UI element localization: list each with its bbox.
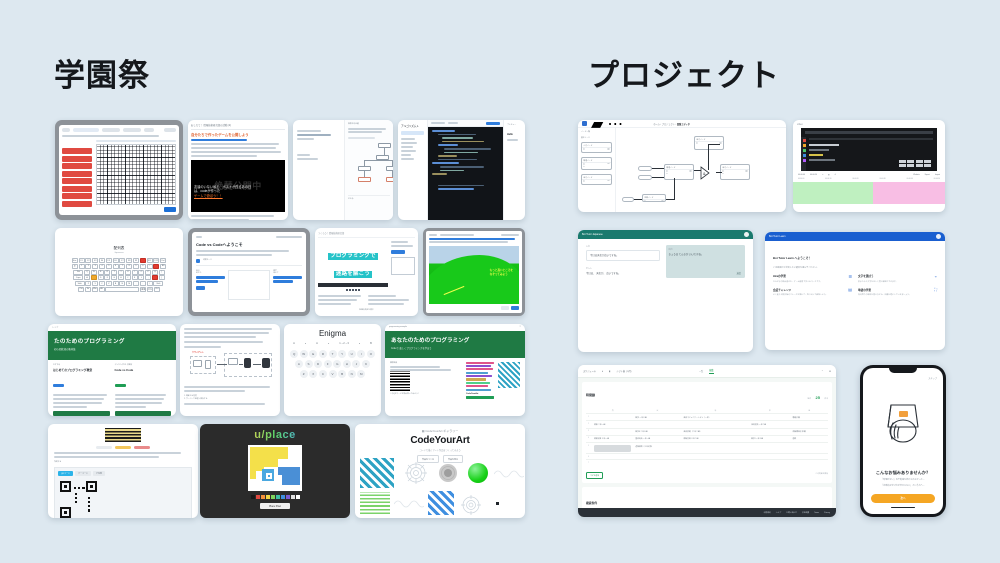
key-space[interactable] — [105, 287, 139, 292]
feature-title: 会話チャレンジ — [773, 288, 791, 292]
art-pattern-green[interactable] — [360, 492, 390, 514]
cell-selected[interactable] — [592, 442, 633, 453]
save-note[interactable]: この内容を保存 — [815, 472, 828, 475]
feature-title: 文字を選ぼう — [858, 274, 874, 278]
swatch[interactable] — [266, 495, 270, 499]
u-place-logo: u/place — [205, 429, 345, 441]
terminal-preview: 絶賛公開中 友達のいない私と、ポストが作るあの日 は、codeが作った ゲームで… — [191, 160, 285, 212]
article-sidebar — [391, 241, 415, 291]
terminal-line-3: ゲームで遊ぼう！！ — [194, 194, 223, 198]
article-footer-note[interactable]: 記事の続きを読む — [318, 309, 415, 312]
place-pixel-button[interactable]: Place Pixel — [260, 503, 290, 509]
gear-icon[interactable]: ⚙ — [829, 370, 831, 373]
onboarding-illustration — [869, 380, 937, 468]
graph-node-out-right[interactable]: 出力ノードinoutinoutin — [720, 164, 750, 180]
editor-preview[interactable] — [801, 128, 937, 171]
terrain-hill — [429, 255, 519, 304]
hero-title: あなたのためのプログラミング — [391, 336, 519, 344]
key-s-highlight[interactable] — [91, 275, 97, 280]
panel-title: 時間割 — [586, 393, 595, 397]
ruler-mark: 00:00:10 — [825, 179, 831, 180]
feature-card[interactable]: 文字を選ぼう⌁ 表示された文字を正しく選ぶ練習ができます。 — [858, 274, 937, 284]
split-icon[interactable]: ✂ — [822, 174, 824, 176]
keyboard-subtitle: Japanese — [60, 252, 178, 254]
summary-label: まとめ — [348, 195, 390, 201]
breadcrumb-home[interactable]: ホーム — [653, 124, 660, 126]
chip-popular[interactable] — [115, 446, 131, 449]
article-footer — [191, 215, 285, 220]
content-row: 検索結果 このQRコードを読み取ってみよう！ CodeYourArt — [385, 358, 525, 405]
time-current: 00:00:00 — [798, 174, 805, 176]
card-blue-tutor-app[interactable]: Bot Tutor Learn Bot Tutor Learn へようこそ！ こ… — [765, 232, 945, 350]
node-sidebar[interactable]: ノード一覧 基本ノード 入力ノードinoutinout 論理ノードinoutin… — [578, 128, 616, 212]
cell[interactable] — [633, 421, 681, 428]
cell[interactable]: 国語総合 一年一組 — [633, 435, 681, 442]
input-column: 入力 今日は天気が良いですね。 ヒント 今日は、 天気が、 良いですね。 — [586, 245, 660, 278]
card-terrain-visualizer-tablet[interactable]: もっと高いところをなぞってみよう — [423, 228, 525, 316]
cell[interactable] — [791, 421, 828, 428]
footer-link[interactable]: お問い合わせ — [786, 511, 797, 514]
tree-diagram — [348, 143, 390, 195]
graph-node-bottom[interactable]: 定数ノードinout — [642, 194, 666, 202]
count-unit: 件中 — [824, 398, 828, 400]
feature-card[interactable]: Hiraの学習☰ ひらがなの読み書きを、ゲーム感覚で学べるコースです。 — [773, 274, 852, 284]
tab-barcode[interactable]: バーコード — [75, 471, 91, 476]
card-qr-code-generator-doc[interactable]: 作成する QRコード バーコード その他 — [48, 424, 198, 518]
art-gallery — [360, 458, 520, 515]
export-button[interactable]: Export — [925, 174, 930, 176]
article-header: おしえて！ 情報技術研究部の活動 (2) — [191, 123, 285, 130]
course-cta-button[interactable] — [53, 411, 110, 416]
card-teal-translator-app[interactable]: Bot Tutor Japanese 入力 今日は天気が良いですね。 ヒント 今… — [578, 230, 753, 352]
input-label: 入力 — [586, 245, 660, 248]
swatch[interactable] — [296, 495, 300, 499]
course-cta-button[interactable] — [115, 411, 172, 416]
card-mobile-onboarding[interactable]: スキップ こんなお悩みありませんか？ 「時間がない」ので勉強を続けられなかった…… — [860, 365, 946, 517]
timeline-clip-a[interactable] — [793, 182, 873, 204]
ruler-mark: 00:00:20 — [852, 179, 858, 180]
block-palette[interactable] — [62, 140, 92, 212]
onboarding-headline: こんなお悩みありませんか？ — [869, 470, 937, 476]
window-titlebar: Bot Tutor Japanese — [578, 230, 753, 239]
instruction-bar — [62, 135, 159, 137]
chip-new[interactable] — [134, 446, 150, 449]
app-logo-icon — [582, 121, 587, 126]
swatch[interactable] — [271, 495, 275, 499]
keyboard-row: CtrlFnWinAlt変換かなCtrl — [60, 287, 178, 292]
cell[interactable]: 職員会議 — [791, 414, 828, 421]
bullet-2: 2. サーバーで処理し保存する — [184, 398, 276, 401]
onboarding-bullet-2: 「効率的な学び方が分からない」という方へ… — [869, 485, 937, 488]
swatch[interactable] — [286, 495, 290, 499]
card-maze-programming-tablet[interactable] — [55, 120, 183, 220]
timetable[interactable]: 月 火 水 木 金 1 数学 一年三組 英語コミュニケーション（一年） 職員会議… — [586, 407, 828, 466]
website-button[interactable]: Website — [913, 174, 919, 176]
preview-badge: Hello — [507, 133, 522, 136]
art-title: CodeYourArt — [360, 435, 520, 446]
hero-subtitle: Codeで 楽しくプログラミングを学ぼう — [391, 346, 519, 350]
table-row: 1 数学 一年三組 英語コミュニケーション（一年） 職員会議 — [586, 414, 828, 421]
day-header: 木 — [749, 407, 790, 414]
window-control-icon[interactable] — [936, 234, 941, 239]
enigma-keyboard-row: QWERTYUIO — [288, 350, 377, 358]
timeline-clip-b[interactable] — [873, 182, 945, 204]
enigma-title: Enigma — [288, 329, 377, 338]
footer-link[interactable]: Terms — [814, 512, 819, 514]
panel-opponent-label: あいて — [273, 272, 302, 275]
hint-label: ヒント — [586, 267, 660, 270]
terrain-canvas[interactable]: もっと高いところをなぞってみよう — [429, 246, 519, 304]
art-wave-right — [494, 468, 524, 480]
card-code-your-art[interactable]: ▦ CodeYourArt ギャラリー CodeYourArt コードで描くアー… — [355, 424, 525, 518]
code-pane — [293, 120, 345, 220]
card-video-editor[interactable]: video 00:00:00 00:00:50 ✂ ▮ ↺ Website Ex… — [793, 120, 945, 212]
app-title: Code vs Codeへようこそ — [196, 242, 302, 248]
app-label: video — [793, 120, 945, 128]
course-card[interactable]: ランキング1位 の教材 Code vs Code — [115, 364, 172, 416]
banner: プログラミングで 迷路を解こう — [318, 244, 388, 280]
ruler-mark: 00:00:00 — [798, 179, 804, 180]
workspace — [62, 140, 176, 212]
filter-title: 検索条件 — [586, 501, 597, 505]
cell[interactable]: 情報実習 三年二組 — [682, 435, 750, 442]
enigma-keyboard-row: ZXCVBNM — [288, 370, 377, 378]
graph-node-out-top[interactable]: 出力ノードinoutinout — [694, 136, 724, 150]
editor-body: ノード一覧 基本ノード 入力ノードinoutinout 論理ノードinoutin… — [578, 128, 786, 212]
card-docs-flowchart-page[interactable]: 探索木の比較 まとめ — [293, 120, 393, 220]
tablet-screen: もっと高いところをなぞってみよう — [426, 231, 522, 313]
editor-main — [428, 120, 503, 220]
output-value: きょうは てんきが いいですね。 — [669, 253, 743, 257]
count-value: 25 — [815, 395, 819, 400]
card-keyboard-layout-chart[interactable]: 配列表 Japanese EscF1F2F3F4F5F6F7F8F9F11F12… — [55, 228, 183, 316]
output-send-button[interactable]: 送信 — [737, 271, 741, 275]
preview-label: プレビュー — [507, 124, 522, 127]
cell[interactable]: 体育実技 一年二組 — [749, 421, 790, 428]
phone-screen: スキップ こんなお悩みありませんか？ 「時間がない」ので勉強を続けられなかった…… — [863, 368, 943, 514]
battle-panels: 自分 あなた 相手 あいて — [196, 270, 302, 300]
maze-canvas — [96, 144, 176, 205]
tab-edit[interactable]: 編集 — [709, 368, 713, 374]
art-pattern-teal[interactable] — [360, 458, 394, 488]
sidebar-title: アルゴリズム１ — [401, 124, 424, 128]
card-code-editor-dark[interactable]: アルゴリズム１ プレビュー Hello — [398, 120, 525, 220]
list-icon: ☰ — [848, 274, 852, 279]
rotor-1[interactable]: A — [293, 342, 295, 345]
cell[interactable]: 数学Ⅱ 二年三組 — [633, 428, 681, 435]
swatch[interactable] — [261, 495, 265, 499]
chip-all[interactable] — [96, 446, 112, 449]
card-code-vs-code-tablet[interactable]: Code vs Codeへようこそ 対戦モード 自分 あなた 相手 あいて — [188, 228, 310, 316]
window-titlebar: Bot Tutor Learn — [765, 232, 945, 241]
key-f10-highlight[interactable] — [140, 258, 146, 263]
day-header: 水 — [682, 407, 750, 414]
diagram-title: 探索木の比較 — [348, 123, 390, 126]
file-name[interactable]: シフト表（9月） — [616, 369, 633, 373]
breadcrumb-current: 回路エディタ — [677, 124, 690, 126]
reflector[interactable]: B — [370, 342, 372, 345]
feature-desc: 表示された文字を正しく選ぶ練習ができます。 — [858, 281, 937, 284]
undo-icon[interactable]: ↺ — [835, 174, 837, 176]
toolbar — [429, 234, 519, 236]
cell[interactable] — [682, 421, 750, 428]
feature-title: Hiraの学習 — [773, 274, 786, 278]
course-title: はじめてのプログラミング教室 — [53, 368, 110, 372]
rotor-selectors[interactable]: A▾ A▾ 1→2→3▾ B — [288, 342, 377, 345]
chip-row[interactable] — [54, 446, 192, 449]
banner-strip — [318, 283, 388, 287]
window-title: Bot Tutor Learn — [769, 235, 785, 238]
card-icon: ▤ — [848, 287, 852, 292]
table-row: 4 情報実習 三年一組 国語総合 一年一組 情報実習 三年二組 数学Ⅰ 一年三組… — [586, 435, 828, 442]
intro-title: Bot Tutor Learn へようこそ！ — [773, 256, 811, 260]
art-green-sphere[interactable] — [468, 463, 488, 483]
card-system-architecture-doc[interactable]: クライアント 1. 端末から送信 2. サーバーで処理し保存する — [180, 324, 280, 416]
output-column: 出力 きょうは てんきが いいですね。 送信 — [666, 245, 746, 278]
swatch[interactable] — [256, 495, 260, 499]
architecture-diagram: クライアント — [184, 352, 276, 382]
banner-line-1: プログラミングで — [328, 253, 378, 260]
search-icon[interactable]: ⌕ — [822, 370, 823, 372]
cell[interactable] — [749, 414, 790, 421]
art-title: CodeYourArt — [466, 393, 494, 395]
swatch[interactable] — [276, 495, 280, 499]
add-slot-button[interactable]: コマを追加 — [586, 472, 603, 480]
tab-row[interactable]: 対戦モード — [196, 259, 302, 266]
table-row: 5 進路相談（三年対象） — [586, 442, 828, 453]
key-ent-highlight[interactable] — [152, 275, 158, 280]
day-header: 火 — [633, 407, 681, 414]
keyboard-row: CapsADFGHJKL;] — [60, 275, 178, 280]
banner-line-2: 迷路を解こう — [334, 271, 372, 278]
svg-text:&: & — [703, 171, 706, 176]
feature-desc: よく使う日常会話のフレーズを聞いて、声に出して練習しよう。 — [773, 294, 852, 297]
delete-icon[interactable]: ▮ — [829, 174, 830, 176]
time-total: 00:00:50 — [810, 174, 817, 176]
footer-link[interactable]: ヘルプ — [776, 511, 781, 514]
app-name: スケジュール — [583, 369, 596, 373]
graph-canvas[interactable]: 出力ノードinoutinout 論理ノードinoutinoutin 出力ノードi… — [616, 128, 786, 212]
input-field[interactable]: 今日は天気が良いですね。 — [586, 250, 660, 261]
card-node-graph-editor[interactable]: ▰ ⋯ ホーム › プロジェクト › 回路エディタ ノード一覧 基本ノード 入力… — [578, 120, 786, 212]
card-u-place-canvas[interactable]: u/place Place Pixel — [200, 424, 350, 518]
art-gear-gray[interactable] — [436, 461, 460, 485]
table-row: 3 数学Ⅱ 二年三組 英語表現（二年二組） 情報講習会 準備 — [586, 428, 828, 435]
cell[interactable]: 情報 二年一組 — [592, 421, 633, 428]
cell[interactable]: 進路相談（三年対象） — [633, 442, 681, 453]
pixel-canvas[interactable] — [248, 445, 302, 491]
cell[interactable]: 情報実習 三年一組 — [592, 435, 633, 442]
app-toolbar[interactable]: スケジュール ▾ ▮ シフト表（9月） 一覧 編集 ⌕ ⚙ — [578, 365, 836, 378]
key-bs-highlight[interactable] — [153, 264, 159, 269]
art-wave-left — [394, 498, 424, 510]
translator-body: 入力 今日は天気が良いですね。 ヒント 今日は、 天気が、 良いですね。 出力 … — [578, 239, 753, 284]
palette-node[interactable]: 論理ノードinoutinin — [581, 157, 612, 170]
share-icon[interactable]: ⇪ — [519, 326, 521, 328]
cell[interactable] — [682, 442, 750, 453]
intro-block: Bot Tutor Learn へようこそ！ この画面から学習したい項目を選んで… — [765, 241, 945, 269]
chevron-down-icon: ▾ — [305, 343, 306, 345]
keyboard-row: EscF1F2F3F4F5F6F7F8F9F11F12Del — [60, 258, 178, 263]
swatch[interactable] — [251, 495, 255, 499]
onboarding-cta-button[interactable]: 次へ — [871, 494, 935, 503]
keyboard-title: 配列表 — [60, 246, 178, 251]
swatch[interactable] — [291, 495, 295, 499]
graph-input-pill[interactable] — [638, 175, 652, 180]
card-timetable-scheduler[interactable]: スケジュール ▾ ▮ シフト表（9月） 一覧 編集 ⌕ ⚙ 時間割 全件 25 … — [578, 365, 836, 517]
brand-text: CodeYourArt ギャラリー — [425, 429, 458, 433]
timeline-track[interactable] — [793, 182, 945, 204]
course-columns: おすすめ はじめてのプログラミング教室 ランキング1位 の教材 Code vs … — [48, 360, 176, 416]
card-game-article-terminal[interactable]: おしえて！ 情報技術研究部の活動 (2) 自分たちで作ったゲームを公開しよう 絶… — [188, 120, 288, 220]
rotor-2[interactable]: A — [316, 342, 318, 345]
feature-card[interactable]: 単語の学習⛶ 身の回りの単語を覚えながら、語彙を増やしていきましょう。 — [858, 287, 937, 297]
terrain-run-button[interactable] — [511, 306, 519, 310]
run-button[interactable] — [164, 207, 176, 212]
cell[interactable] — [592, 428, 633, 435]
course-tag — [53, 384, 64, 387]
feature-desc: ひらがなの読み書きを、ゲーム感覚で学べるコースです。 — [773, 281, 852, 284]
footer-link[interactable]: 利用規約 — [764, 511, 771, 514]
course-tag — [115, 384, 126, 387]
terrain-annotation: もっと高いところをなぞってみよう — [490, 269, 513, 276]
sidebar-selected-item[interactable] — [401, 131, 424, 135]
rotor-order[interactable]: 1→2→3 — [339, 342, 349, 345]
section-label: 作成する — [54, 461, 192, 464]
browser-url: programming.example — [389, 326, 407, 329]
color-palette[interactable] — [205, 495, 345, 499]
card-programming-for-you-page-1[interactable]: トップ たのためのプログラミング 初心者歓迎の教材集 おすすめ はじめてのプログ… — [48, 324, 176, 416]
panel-header: 時間割 全件 25 件中 — [586, 386, 828, 404]
person-illustration — [877, 401, 929, 447]
hero-subtitle: 初心者歓迎の教材集 — [54, 347, 170, 351]
course-card[interactable]: おすすめ はじめてのプログラミング教室 — [53, 364, 110, 416]
hint-value: 今日は、 天気が、 良いですね。 — [586, 271, 660, 275]
panel-opponent: 相手 あいて — [273, 270, 302, 300]
card-maze-solver-article[interactable]: つくろう！情報技術研究部 プログラミングで 迷路を解こう 記事の続きを読む — [315, 228, 418, 316]
cell[interactable]: 英語表現（二年二組） — [682, 428, 750, 435]
feature-grid: Hiraの学習☰ ひらがなの読み書きを、ゲーム感覚で学べるコースです。 文字を選… — [765, 269, 945, 303]
palette-node[interactable]: 入力ノードinoutinout — [581, 142, 612, 153]
cell[interactable] — [791, 442, 828, 453]
graph-input-pill[interactable] — [638, 166, 652, 171]
page-title-left: 学園祭 — [54, 50, 150, 95]
breadcrumb[interactable]: ホーム › プロジェクト › 回路エディタ — [653, 122, 690, 126]
art-dot — [496, 502, 499, 505]
footer-link[interactable]: 会社概要 — [802, 511, 809, 514]
qr-panel: 検索結果 このQRコードを読み取ってみよう！ — [390, 362, 462, 401]
footer-link[interactable]: Privacy — [824, 512, 830, 514]
hero-banner: あなたのためのプログラミング Codeで 楽しくプログラミングを学ぼう — [385, 331, 525, 358]
hero-title: たのためのプログラミング — [54, 337, 170, 345]
cell[interactable] — [749, 428, 790, 435]
cell[interactable]: 数学 一年三組 — [633, 414, 681, 421]
chevron-down-icon: ▾ — [328, 343, 329, 345]
editor-sidebar[interactable]: アルゴリズム１ — [398, 120, 428, 220]
cell[interactable] — [592, 414, 633, 421]
panel-self: 自分 あなた — [196, 270, 225, 300]
block-code-preview: CodeYourArt — [466, 362, 494, 401]
swatch[interactable] — [281, 495, 285, 499]
art-gear-light-2[interactable] — [460, 494, 482, 516]
tab-qrcode[interactable]: QRコード — [58, 471, 73, 476]
check-icon: ⌁ — [935, 274, 937, 279]
footer-bar: 利用規約 ヘルプ お問い合わせ 会社概要 Terms Privacy — [578, 508, 836, 517]
expand-icon: ⛶ — [934, 287, 937, 292]
feature-desc: 身の回りの単語を覚えながら、語彙を増やしていきましょう。 — [858, 294, 937, 297]
cell[interactable]: 数学Ⅰ 一年三組 — [749, 435, 790, 442]
graph-const-pill[interactable] — [622, 197, 634, 202]
tablet-statusbar — [196, 236, 302, 238]
page-title-right: プロジェクト — [588, 50, 780, 95]
feature-title: 単語の学習 — [858, 288, 871, 292]
qr-caption: このQRコードを読み取ってみよう！ — [390, 393, 462, 396]
keyboard-row: TabQWERTYUIOP@[ — [60, 270, 178, 275]
tablet-screen: Code vs Codeへようこそ 対戦モード 自分 あなた 相手 あいて — [192, 232, 306, 312]
art-gear-light[interactable] — [404, 461, 428, 485]
editor-toolbar[interactable]: 00:00:00 00:00:50 ✂ ▮ ↺ Website Export I… — [793, 171, 945, 179]
sidebar-group: 基本ノード — [581, 137, 612, 140]
course-title: Code vs Code — [115, 368, 172, 372]
palette-node[interactable]: 出力ノードinoutin — [581, 174, 612, 185]
brand-label: ▦ CodeYourArt ギャラリー — [360, 429, 520, 433]
cell[interactable] — [749, 442, 790, 453]
file-icon: ▮ — [609, 370, 610, 373]
battle-canvas — [228, 270, 270, 300]
code-area[interactable] — [428, 127, 503, 220]
tab-other[interactable]: その他 — [93, 471, 105, 476]
tab-row[interactable]: QRコード バーコード その他 — [58, 471, 188, 476]
panel-self-label: あなた — [196, 272, 225, 275]
enigma-keyboard-row: ASDFGHJK — [288, 360, 377, 368]
count-label: 全件 — [807, 398, 811, 400]
breadcrumb-project[interactable]: プロジェクト — [662, 124, 675, 126]
cell[interactable]: 情報講習会 準備 — [791, 428, 828, 435]
day-header: 月 — [592, 407, 633, 414]
tab-label: 対戦モード — [203, 259, 212, 262]
table-row: 2 情報 二年一組 体育実技 一年二組 — [586, 421, 828, 428]
chevron-down-icon: ▾ — [359, 343, 360, 345]
course-kicker: ランキング1位 の教材 — [115, 364, 172, 367]
chevron-down-icon[interactable]: ▾ — [602, 370, 603, 373]
table-header-row: 月 火 水 木 金 — [586, 407, 828, 414]
import-button[interactable]: Import — [935, 174, 940, 176]
graph-node-logic[interactable]: 論理ノードinoutinoutin — [664, 164, 694, 180]
cta-button[interactable] — [466, 396, 494, 399]
day-header: 金 — [791, 407, 828, 414]
feature-card[interactable]: 会話チャレンジ▤ よく使う日常会話のフレーズを聞いて、声に出して練習しよう。 — [773, 287, 852, 297]
art-pattern-blue[interactable] — [428, 491, 454, 515]
site-nav[interactable]: トップ — [48, 324, 176, 331]
table-row: 7 — [586, 460, 828, 466]
keyboard-row: ShiftZXCVBNM,./Shift — [60, 281, 178, 286]
diagram-red-label: クライアント — [192, 351, 204, 354]
cell[interactable]: 面談 — [791, 435, 828, 442]
window-title: Bot Tutor Japanese — [582, 233, 603, 236]
ruler-mark: 00:00:40 — [907, 179, 913, 180]
generative-pattern — [498, 362, 520, 388]
keyboard-row: 半1234567890-BS — [60, 264, 178, 269]
tab-list[interactable]: 一覧 — [699, 369, 703, 373]
card-programming-for-you-page-2[interactable]: programming.example ⇪ あなたのためのプログラミング Cod… — [385, 324, 525, 416]
qr-panel: QRコード バーコード その他 — [54, 467, 192, 518]
ruler-mark: 00:00:50 — [934, 179, 940, 180]
card-enigma-simulator[interactable]: Enigma A▾ A▾ 1→2→3▾ B QWERTYUIO ASDFGHJK… — [284, 324, 381, 416]
cell[interactable]: 英語コミュニケーション（一年） — [682, 414, 750, 421]
pixel-art — [248, 445, 302, 491]
article-title: 自分たちで作ったゲームを公開しよう — [191, 132, 285, 137]
window-control-icon[interactable] — [744, 232, 749, 237]
